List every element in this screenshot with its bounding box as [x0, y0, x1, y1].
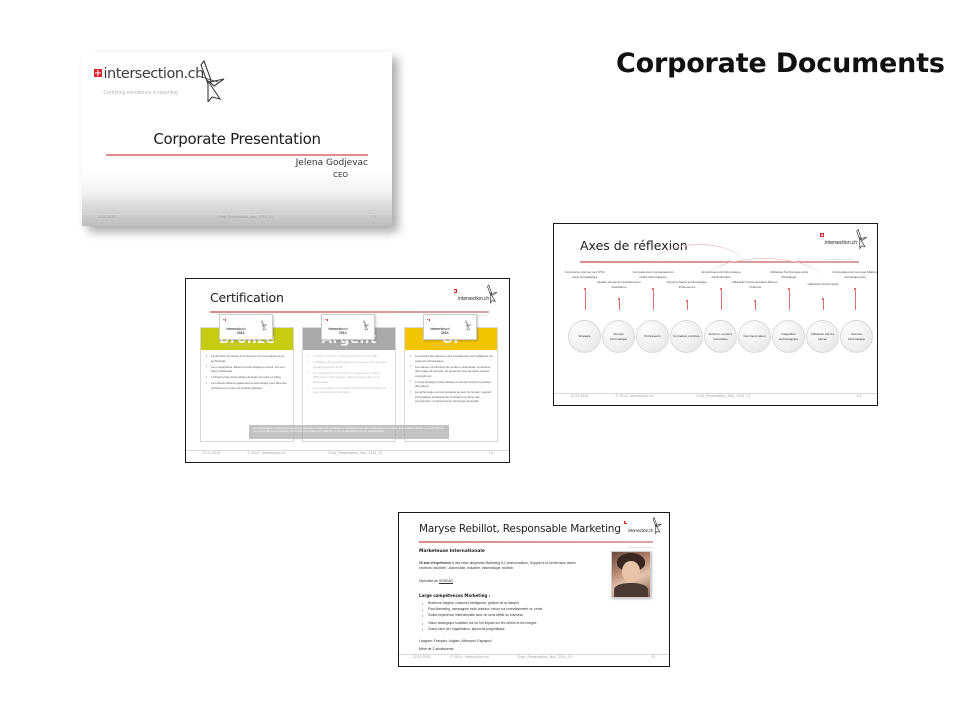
brand-name: intersection.ch [628, 529, 653, 534]
list-item: Les élèves utilisent également la techno… [211, 381, 290, 390]
badge-year: 2014 [441, 331, 449, 335]
slide3-footer-copyright: © 2014 - intersection.ch [615, 394, 653, 398]
list-item: La direction de l'école a conscience de … [211, 354, 290, 363]
axis-node[interactable]: Science informatique [840, 320, 873, 353]
axis-stem [619, 300, 620, 310]
slide2-title: Certification [210, 290, 284, 305]
profile-experience-lead: 20 ans d'expérience [419, 561, 451, 565]
profile-experience: 20 ans d'expérience à des rôles dirigean… [419, 561, 579, 572]
list-item: L'école a une claire stratégie concernan… [313, 354, 392, 359]
slide2-title-rule [210, 311, 489, 313]
axis-node[interactable]: Utilisation par les élèves [806, 320, 839, 353]
slide4-footer-page: 22 [652, 655, 656, 659]
axis-stem [721, 290, 722, 310]
slide1-title-rule [106, 154, 368, 156]
swiss-cross-icon [454, 289, 458, 293]
axis-node[interactable]: Communi cation [738, 320, 771, 353]
axis-stem [585, 290, 586, 310]
slide3-footer: 12.01.2015 © 2014 - intersection.ch Corp… [554, 394, 877, 402]
slide3-brand-logo-text: intersection.ch Certifying excellence in… [824, 232, 857, 264]
axis-label: Qualité du service Infrastructure Assist… [596, 280, 642, 290]
axis-label: Informatique En tant que Matière d'ensei… [832, 270, 878, 280]
axis-label: Moyens Santé technologique Professeurs [664, 280, 710, 290]
brand-name: intersection.ch [104, 66, 204, 82]
swiss-cross-icon [427, 319, 430, 322]
certification-badge-or: intersection.ch Certifying excellence in… [423, 314, 477, 340]
profile-personal: Mère de 2 adolescents. [419, 647, 579, 652]
certification-badge-bronze: intersection.ch Certifying excellence in… [219, 314, 273, 340]
profile-diploma-school[interactable]: l'INSEAD [439, 579, 453, 583]
slide1-title: Corporate Presentation [82, 130, 392, 148]
certification-badge-argent: intersection.ch Certifying excellence in… [321, 314, 375, 340]
slide1-footer: 12.01.2015 Corp_Presentation_Nov_2014_V1… [82, 215, 392, 223]
slide4-brand-logo: intersection.ch Certifying excellence in… [624, 520, 653, 552]
axis-stem [755, 302, 756, 310]
slide2-footer-copyright: © 2014 - intersection.ch [247, 451, 285, 455]
scissors-cursor-icon [463, 317, 473, 334]
swiss-cross-icon [223, 319, 226, 322]
badge-year: 2014 [237, 331, 245, 335]
list-item: Les enseignants et les élèves utilisent … [313, 386, 392, 395]
list-item: L'utilisation de la technologie est en a… [313, 360, 392, 369]
axis-node[interactable]: Professeurs [636, 320, 669, 353]
profile-photo [611, 551, 651, 598]
list-item: La technologie est très présente au sein… [415, 390, 494, 404]
slide-thumbnail-axes-de-reflexion[interactable]: Axes de réflexion intersection.ch Certif… [553, 223, 878, 406]
list-item: L'infrastructure informatique de base es… [211, 375, 290, 380]
profile-diploma-lead: Diplômée de [419, 579, 439, 583]
slide3-footer-center: Corp_Presentation_Nov_2014_V1 [696, 394, 751, 398]
brand-logo: intersection.ch Certifying excellence in… [94, 66, 204, 98]
profile-competency-header: Large compétences Marketing : [419, 593, 490, 598]
slide-gallery-page: Corporate Documents intersection.ch Cert… [0, 0, 955, 720]
brand-tagline: Certifying excellence in teaching [824, 259, 853, 261]
scissors-cursor-icon [361, 317, 371, 334]
list-item: L'école enseigne l'informatique et stimu… [415, 380, 494, 389]
swiss-cross-icon [624, 521, 627, 524]
brand-tagline: Certifying excellence in teaching [104, 90, 178, 96]
swiss-cross-icon [94, 69, 102, 77]
profile-diploma: Diplômée de l'INSEAD [419, 579, 579, 584]
axis-node[interactable]: Stratégie [568, 320, 601, 353]
brand-logo-text: intersection.ch Certifying excellence in… [104, 66, 204, 98]
slide4-footer-date: 12.01.2015 [413, 655, 431, 659]
slide1-footer-date: 12.01.2015 [98, 215, 116, 219]
brand-tagline: Certifying excellence in teaching [226, 346, 249, 347]
swiss-cross-icon [820, 233, 824, 237]
axis-node[interactable]: Intégration technologique [772, 320, 805, 353]
axis-label: Efficacité Communication Élèves / Parent… [732, 280, 778, 290]
certification-bullets-argent: L'école a une claire stratégie concernan… [306, 354, 392, 395]
list-item: Les tâches des élèves et des enseignants… [415, 354, 494, 363]
slide4-brand-logo-text: intersection.ch Certifying excellence in… [628, 520, 653, 552]
brand-tagline: Certifying excellence in teaching [628, 547, 652, 549]
profile-competency-list-2: Vision stratégique focalisée sur un fort… [423, 621, 593, 633]
axis-label: Utilisation Technologie dans Pédagogie [766, 270, 812, 280]
slide3-footer-page: 10 [857, 394, 861, 398]
profile-languages: Langues: Français, Anglais, Allemand, Es… [419, 639, 579, 644]
slide1-footer-page: 1 [375, 215, 377, 219]
list-item: Solide expérience internationale avec un… [423, 613, 593, 619]
slide1-footer-center: Corp_Presentation_Nov_2014_V1 [218, 215, 273, 219]
slide3-footer-date: 12.01.2015 [570, 394, 588, 398]
slide2-footer-date: 12.01.2015 [202, 451, 220, 455]
certification-note-box: Les étoiles situées ci-dessous en set su… [249, 425, 449, 439]
slide3-brand-logo: intersection.ch Certifying excellence in… [820, 232, 857, 264]
brand-name: intersection.ch [824, 240, 857, 246]
list-item: Les élèves construisent du contenu multi… [415, 365, 494, 379]
axis-stem [823, 300, 824, 310]
axis-node[interactable]: Environ- nement numérique [704, 320, 737, 353]
badge-year: 2014 [339, 331, 347, 335]
axis-label: Utilisation Technologie [800, 282, 846, 287]
brand-tagline: Certifying excellence in teaching [430, 346, 453, 347]
slide4-footer: 12.01.2015 © 2014 - intersection.ch Corp… [399, 655, 669, 663]
axis-label: Importance donnée aux NTIC dans la pédag… [562, 270, 608, 280]
profile-photo-face [622, 561, 640, 582]
profile-photo-body [614, 583, 648, 597]
slide4-title-rule [419, 541, 653, 543]
brand-name: intersection.ch [458, 296, 489, 302]
slide-thumbnail-certification[interactable]: Certification intersection.ch Certifying… [185, 278, 510, 463]
scissors-cursor-icon [259, 317, 269, 334]
certification-bullets-bronze: La direction de l'école a conscience de … [204, 354, 290, 390]
axis-stem [653, 290, 654, 310]
profile-competency-list: Business insights, customer intelligence… [423, 601, 593, 619]
list-item: Les enseignants utilisent la technologie… [211, 365, 290, 374]
certification-note-text: Les étoiles situées ci-dessous en set su… [253, 427, 445, 435]
page-title: Corporate Documents [616, 48, 945, 79]
slide4-footer-center: Corp_Presentation_Nov_2014_V1 [518, 655, 573, 659]
axis-node[interactable]: Formation continue [670, 320, 703, 353]
axis-label: Compétences Connaissances Outils informa… [630, 270, 676, 280]
axis-stem [789, 290, 790, 310]
list-item: Grand sens de l'organisation, approche p… [423, 627, 593, 633]
slide1-author: Jelena Godjevac [296, 158, 368, 168]
slide1-role: CEO [333, 171, 348, 179]
axis-stem [687, 302, 688, 310]
axis-label: Environnement Informatique Administratio… [698, 270, 744, 280]
axis-node[interactable]: Service informatique [602, 320, 635, 353]
list-item: Les enseignants connaissent et appliquen… [313, 371, 392, 385]
brand-tagline: Certifying excellence in teaching [328, 346, 351, 347]
slide4-footer-copyright: © 2014 - intersection.ch [450, 655, 488, 659]
slide-thumbnail-corporate-presentation[interactable]: intersection.ch Certifying excellence in… [82, 52, 392, 226]
swiss-cross-icon [325, 319, 328, 322]
slide4-title: Maryse Rebillot, Responsable Marketing [419, 523, 621, 535]
slide2-footer-center: Corp_Presentation_Nov_2014_V1 [328, 451, 383, 455]
profile-subtitle: Marketeuse Internationale [419, 549, 485, 554]
certification-bullets-or: Les tâches des élèves et des enseignants… [408, 354, 494, 404]
axis-stem [855, 290, 856, 310]
slide-thumbnail-maryse-rebillot[interactable]: Maryse Rebillot, Responsable Marketing i… [398, 512, 670, 667]
slide2-footer: 12.01.2015 © 2014 - intersection.ch Corp… [186, 451, 509, 459]
slide2-footer-page: 18 [489, 451, 493, 455]
